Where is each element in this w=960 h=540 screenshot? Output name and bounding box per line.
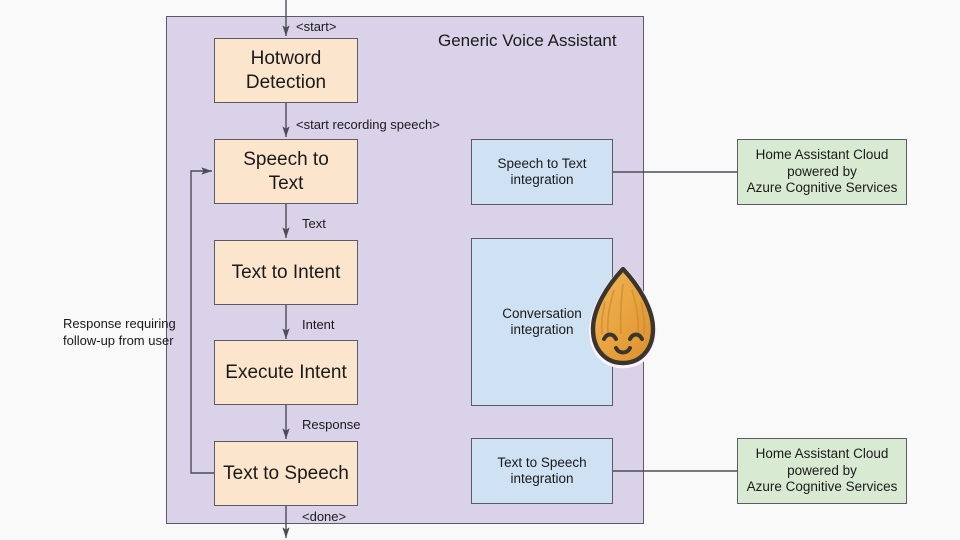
node-text-to-speech-label: Text to Speech [223, 462, 349, 485]
edge-label-done: <done> [302, 509, 346, 525]
node-conversation-integration-label: Conversation integration [502, 306, 582, 339]
almond-icon [584, 264, 662, 370]
group-title: Generic Voice Assistant [438, 31, 617, 51]
edge-label-intent: Intent [302, 317, 335, 333]
node-home-assistant-cloud-tts-label: Home Assistant Cloud powered by Azure Co… [747, 446, 898, 495]
node-text-to-intent[interactable]: Text to Intent [214, 240, 358, 305]
diagram-canvas: Generic Voice Assistant [0, 0, 960, 540]
node-text-to-speech-integration[interactable]: Text to Speech integration [471, 438, 613, 504]
node-home-assistant-cloud-tts[interactable]: Home Assistant Cloud powered by Azure Co… [737, 438, 907, 504]
node-hotword-detection-label: Hotword Detection [246, 47, 326, 93]
edge-label-response: Response [302, 417, 361, 433]
node-execute-intent-label: Execute Intent [225, 361, 346, 384]
edge-label-text: Text [302, 216, 326, 232]
edge-label-start: <start> [296, 19, 336, 35]
edge-label-start-recording: <start recording speech> [296, 117, 440, 133]
node-text-to-speech-integration-label: Text to Speech integration [497, 455, 586, 488]
node-home-assistant-cloud-stt-label: Home Assistant Cloud powered by Azure Co… [747, 147, 898, 196]
node-hotword-detection[interactable]: Hotword Detection [214, 38, 358, 103]
node-speech-to-text-integration-label: Speech to Text integration [497, 156, 586, 189]
node-home-assistant-cloud-stt[interactable]: Home Assistant Cloud powered by Azure Co… [737, 139, 907, 205]
node-execute-intent[interactable]: Execute Intent [214, 340, 358, 405]
node-text-to-speech[interactable]: Text to Speech [214, 441, 358, 506]
node-speech-to-text-integration[interactable]: Speech to Text integration [471, 139, 613, 205]
node-text-to-intent-label: Text to Intent [232, 261, 341, 284]
node-speech-to-text[interactable]: Speech to Text [214, 139, 358, 204]
node-speech-to-text-label: Speech to Text [243, 148, 329, 194]
annotation-followup-note: Response requiring follow-up from user [63, 316, 203, 350]
